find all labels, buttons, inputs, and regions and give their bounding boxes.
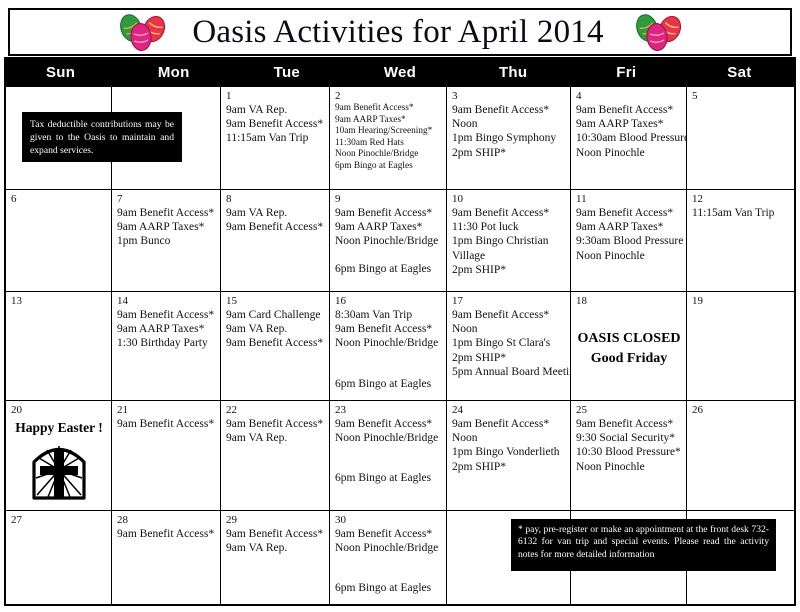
event-item[interactable]: 9am Benefit Access* <box>117 417 216 431</box>
event-item[interactable]: Noon Pinochle <box>576 249 682 263</box>
event-item[interactable]: 9am AARP Taxes* <box>335 115 442 127</box>
day-number: 3 <box>452 90 566 102</box>
event-item[interactable]: 2pm SHIP* <box>452 263 566 277</box>
event-list: 9am Benefit Access*9am AARP Taxes*1:30 B… <box>117 308 216 351</box>
day-number: 6 <box>11 193 107 205</box>
event-item[interactable]: 2pm SHIP* <box>452 351 566 365</box>
event-item[interactable]: 1pm Bingo Symphony <box>452 131 566 145</box>
event-item[interactable]: 6pm Bingo at Eagles <box>335 377 442 391</box>
event-item[interactable]: 9am Benefit Access* <box>576 103 682 117</box>
event-item[interactable]: 9am VA Rep. <box>226 103 325 117</box>
event-item[interactable]: 9am Benefit Access* <box>335 527 442 541</box>
day-number: 30 <box>335 514 442 526</box>
event-item[interactable]: 9am AARP Taxes* <box>117 220 216 234</box>
footnote-note: * pay, pre-register or make an appointme… <box>511 519 776 571</box>
day-number: 24 <box>452 404 566 416</box>
event-item[interactable]: Noon <box>452 117 566 131</box>
event-item[interactable]: 6pm Bingo at Eagles <box>335 581 442 595</box>
day-number: 5 <box>692 90 792 102</box>
event-item[interactable]: 9am Benefit Access* <box>335 322 442 336</box>
event-item[interactable]: 9am Benefit Access* <box>452 206 566 220</box>
easter-eggs-icon <box>114 12 170 52</box>
day-cell-15[interactable]: 159am Card Challenge9am VA Rep.9am Benef… <box>221 292 330 401</box>
event-spacer <box>335 249 442 262</box>
event-list: 9am Benefit Access*9am AARP Taxes*1pm Bu… <box>117 206 216 249</box>
day-number: 18 <box>576 295 682 307</box>
day-number: 27 <box>11 514 107 526</box>
event-item[interactable]: 1pm Bingo Vonderlieth <box>452 445 566 459</box>
day-cell-1[interactable]: 19am VA Rep.9am Benefit Access*11:15am V… <box>221 87 330 190</box>
event-item[interactable]: 9am VA Rep. <box>226 541 325 555</box>
event-list: 9am Benefit Access*9:30 Social Security*… <box>576 417 682 474</box>
day-number: 25 <box>576 404 682 416</box>
event-item[interactable]: 10am Hearing/Screening* <box>335 126 442 138</box>
day-number: 1 <box>226 90 325 102</box>
event-spacer <box>335 458 442 471</box>
event-list: 9am Benefit Access*Noon1pm Bingo Vonderl… <box>452 417 566 474</box>
day-number: 19 <box>692 295 792 307</box>
event-item[interactable]: 9am VA Rep. <box>226 206 325 220</box>
event-list: 9am Benefit Access*Noon Pinochle/Bridge6… <box>335 417 442 486</box>
day-number: 13 <box>11 295 107 307</box>
day-number: 17 <box>452 295 566 307</box>
day-cell-24[interactable]: 249am Benefit Access*Noon1pm Bingo Vonde… <box>447 401 571 511</box>
weekday-header-wed: Wed <box>343 57 456 87</box>
event-item[interactable]: 6pm Bingo at Eagles <box>335 262 442 276</box>
event-item[interactable]: 11:30 Pot luck <box>452 220 566 234</box>
day-cell-23[interactable]: 239am Benefit Access*Noon Pinochle/Bridg… <box>330 401 447 511</box>
event-item[interactable]: 9am Benefit Access* <box>117 527 216 541</box>
event-list: 9am Card Challenge9am VA Rep.9am Benefit… <box>226 308 325 351</box>
event-item[interactable]: 9am Benefit Access* <box>117 308 216 322</box>
day-number: 11 <box>576 193 682 205</box>
event-item[interactable]: 9am Benefit Access* <box>226 117 325 131</box>
weekday-header-fri: Fri <box>570 57 683 87</box>
day-number: 2 <box>335 90 442 102</box>
day-cell-26[interactable]: 26 <box>687 401 796 511</box>
day-cell-30[interactable]: 309am Benefit Access*Noon Pinochle/Bridg… <box>330 511 447 604</box>
event-item[interactable]: Noon Pinochle <box>576 146 682 160</box>
day-number: 22 <box>226 404 325 416</box>
day-cell-13[interactable]: 13 <box>6 292 112 401</box>
event-item[interactable]: 11:15am Van Trip <box>692 206 792 220</box>
day-cell-5[interactable]: 5 <box>687 87 796 190</box>
event-item[interactable]: 9am AARP Taxes* <box>576 220 682 234</box>
event-list: 9am Benefit Access*9am VA Rep. <box>226 417 325 445</box>
event-list: 9am Benefit Access*9am AARP Taxes*9:30am… <box>576 206 682 263</box>
event-item[interactable]: 11:15am Van Trip <box>226 131 325 145</box>
event-item[interactable]: Noon Pinochle/Bridge <box>335 541 442 555</box>
weekday-header-row: SunMonTueWedThuFriSat <box>4 57 796 87</box>
event-item[interactable]: Village <box>452 249 566 263</box>
event-item[interactable]: 6pm Bingo at Eagles <box>335 161 442 173</box>
event-item[interactable]: 9am Benefit Access* <box>117 206 216 220</box>
event-item[interactable]: Noon Pinochle/Bridge <box>335 431 442 445</box>
day-number: 15 <box>226 295 325 307</box>
cross-in-arch-window-icon <box>28 440 90 500</box>
event-item[interactable]: 10:30am Blood Pressure <box>576 131 682 145</box>
day-cell-28[interactable]: 289am Benefit Access* <box>112 511 221 604</box>
weekday-header-mon: Mon <box>117 57 230 87</box>
day-number: 9 <box>335 193 442 205</box>
day-cell-14[interactable]: 149am Benefit Access*9am AARP Taxes*1:30… <box>112 292 221 401</box>
event-item[interactable]: Noon <box>452 431 566 445</box>
event-list: 9am Benefit Access*9am AARP Taxes*10:30a… <box>576 103 682 160</box>
cross-graphic-wrap <box>11 440 107 500</box>
day-cell-9[interactable]: 99am Benefit Access*9am AARP Taxes*Noon … <box>330 190 447 292</box>
event-list: 9am Benefit Access*Noon1pm Bingo Symphon… <box>452 103 566 160</box>
event-item[interactable]: 9am VA Rep. <box>226 322 325 336</box>
day-number: 12 <box>692 193 792 205</box>
easter-greeting: Happy Easter ! <box>11 420 107 436</box>
day-cell-8[interactable]: 89am VA Rep.9am Benefit Access* <box>221 190 330 292</box>
day-number: 16 <box>335 295 442 307</box>
event-item[interactable]: Noon Pinochle/Bridge <box>335 149 442 161</box>
event-item[interactable]: 9am Benefit Access* <box>226 527 325 541</box>
event-item[interactable]: Noon Pinochle/Bridge <box>335 336 442 350</box>
event-item[interactable]: 9am Benefit Access* <box>452 417 566 431</box>
event-item[interactable]: 9am Benefit Access* <box>576 206 682 220</box>
event-item[interactable]: 9:30 Social Security* <box>576 431 682 445</box>
event-list: 9am Benefit Access*11:30 Pot luck1pm Bin… <box>452 206 566 277</box>
weekday-header-tue: Tue <box>230 57 343 87</box>
event-item[interactable]: Noon Pinochle/Bridge <box>335 234 442 248</box>
closed-line-2: Good Friday <box>576 349 682 369</box>
day-number: 8 <box>226 193 325 205</box>
event-item[interactable]: 9am AARP Taxes* <box>117 322 216 336</box>
event-list: 9am Benefit Access*9am VA Rep. <box>226 527 325 555</box>
event-item[interactable]: 10:30 Blood Pressure* <box>576 445 682 459</box>
day-cell-16[interactable]: 168:30am Van Trip9am Benefit Access*Noon… <box>330 292 447 401</box>
tax-deductible-note: Tax deductible contributions may be give… <box>22 112 182 162</box>
closed-line-1: OASIS CLOSED <box>576 329 682 349</box>
event-list: 9am VA Rep.9am Benefit Access*11:15am Va… <box>226 103 325 146</box>
event-list: 11:15am Van Trip <box>692 206 792 220</box>
day-cell-21[interactable]: 219am Benefit Access* <box>112 401 221 511</box>
event-spacer <box>335 445 442 458</box>
event-spacer <box>335 364 442 377</box>
event-item[interactable]: 8:30am Van Trip <box>335 308 442 322</box>
event-item[interactable]: 2pm SHIP* <box>452 460 566 474</box>
day-number: 29 <box>226 514 325 526</box>
event-item[interactable]: 9am Card Challenge <box>226 308 325 322</box>
calendar-title-bar: Oasis Activities for April 2014 <box>8 8 792 56</box>
event-spacer <box>335 568 442 581</box>
event-item[interactable]: 9am VA Rep. <box>226 431 325 445</box>
event-item[interactable]: 1:30 Birthday Party <box>117 336 216 350</box>
event-list: 9am Benefit Access*9am AARP Taxes*10am H… <box>335 103 442 173</box>
day-cell-7[interactable]: 79am Benefit Access*9am AARP Taxes*1pm B… <box>112 190 221 292</box>
event-item[interactable]: 1pm Bunco <box>117 234 216 248</box>
event-list: 8:30am Van Trip9am Benefit Access*Noon P… <box>335 308 442 391</box>
event-item[interactable]: 6pm Bingo at Eagles <box>335 471 442 485</box>
day-cell-6[interactable]: 6 <box>6 190 112 292</box>
event-item[interactable]: 1pm Bingo Christian <box>452 234 566 248</box>
weekday-header-thu: Thu <box>457 57 570 87</box>
day-number: 21 <box>117 404 216 416</box>
day-number: 23 <box>335 404 442 416</box>
day-number: 28 <box>117 514 216 526</box>
day-number: 26 <box>692 404 792 416</box>
event-item[interactable]: 9am Benefit Access* <box>452 308 566 322</box>
event-item[interactable]: 2pm SHIP* <box>452 146 566 160</box>
day-number: 4 <box>576 90 682 102</box>
event-item[interactable]: 9am Benefit Access* <box>226 417 325 431</box>
day-cell-4[interactable]: 49am Benefit Access*9am AARP Taxes*10:30… <box>571 87 687 190</box>
day-cell-12[interactable]: 1211:15am Van Trip <box>687 190 796 292</box>
event-item[interactable]: 11:30am Red Hats <box>335 138 442 150</box>
event-item[interactable]: 9am Benefit Access* <box>576 417 682 431</box>
event-spacer <box>335 555 442 568</box>
day-cell-27[interactable]: 27 <box>6 511 112 604</box>
calendar-page: Oasis Activities for April 2014 SunMonTu… <box>0 0 800 612</box>
day-cell-11[interactable]: 119am Benefit Access*9am AARP Taxes*9:30… <box>571 190 687 292</box>
day-cell-25[interactable]: 259am Benefit Access*9:30 Social Securit… <box>571 401 687 511</box>
day-number: 10 <box>452 193 566 205</box>
event-item[interactable]: 9am AARP Taxes* <box>576 117 682 131</box>
event-list: 9am Benefit Access*Noon Pinochle/Bridge6… <box>335 527 442 596</box>
day-number: 20 <box>11 404 107 416</box>
event-list: 9am Benefit Access*9am AARP Taxes*Noon P… <box>335 206 442 276</box>
day-cell-19[interactable]: 19 <box>687 292 796 401</box>
event-item[interactable]: Noon <box>452 322 566 336</box>
event-item[interactable]: 5pm Annual Board Meeting <box>452 365 566 379</box>
event-list: 9am Benefit Access* <box>117 417 216 431</box>
weekday-header-sat: Sat <box>683 57 796 87</box>
event-item[interactable]: 9:30am Blood Pressure <box>576 234 682 248</box>
easter-eggs-icon <box>630 12 686 52</box>
event-item[interactable]: 9am Benefit Access* <box>335 206 442 220</box>
day-number: 7 <box>117 193 216 205</box>
page-title: Oasis Activities for April 2014 <box>192 14 603 51</box>
day-number: 14 <box>117 295 216 307</box>
day-cell-3[interactable]: 39am Benefit Access*Noon1pm Bingo Sympho… <box>447 87 571 190</box>
event-item[interactable]: 9am Benefit Access* <box>226 220 325 234</box>
day-cell-18[interactable]: 18OASIS CLOSEDGood Friday <box>571 292 687 401</box>
day-cell-20[interactable]: 20Happy Easter ! <box>6 401 112 511</box>
event-list: 9am Benefit Access*Noon1pm Bingo St Clar… <box>452 308 566 379</box>
day-cell-22[interactable]: 229am Benefit Access*9am VA Rep. <box>221 401 330 511</box>
day-cell-29[interactable]: 299am Benefit Access*9am VA Rep. <box>221 511 330 604</box>
event-item[interactable]: 1pm Bingo St Clara's <box>452 336 566 350</box>
day-cell-17[interactable]: 179am Benefit Access*Noon1pm Bingo St Cl… <box>447 292 571 401</box>
event-item[interactable]: 9am Benefit Access* <box>335 417 442 431</box>
weekday-header-sun: Sun <box>4 57 117 87</box>
event-list: 9am VA Rep.9am Benefit Access* <box>226 206 325 234</box>
day-cell-10[interactable]: 109am Benefit Access*11:30 Pot luck1pm B… <box>447 190 571 292</box>
event-item[interactable]: Noon Pinochle <box>576 460 682 474</box>
day-cell-2[interactable]: 29am Benefit Access*9am AARP Taxes*10am … <box>330 87 447 190</box>
oasis-closed-note: OASIS CLOSEDGood Friday <box>576 329 682 369</box>
event-spacer <box>335 351 442 364</box>
event-item[interactable]: 9am AARP Taxes* <box>335 220 442 234</box>
event-item[interactable]: 9am Benefit Access* <box>452 103 566 117</box>
event-item[interactable]: 9am Benefit Access* <box>335 103 442 115</box>
event-list: 9am Benefit Access* <box>117 527 216 541</box>
event-item[interactable]: 9am Benefit Access* <box>226 336 325 350</box>
